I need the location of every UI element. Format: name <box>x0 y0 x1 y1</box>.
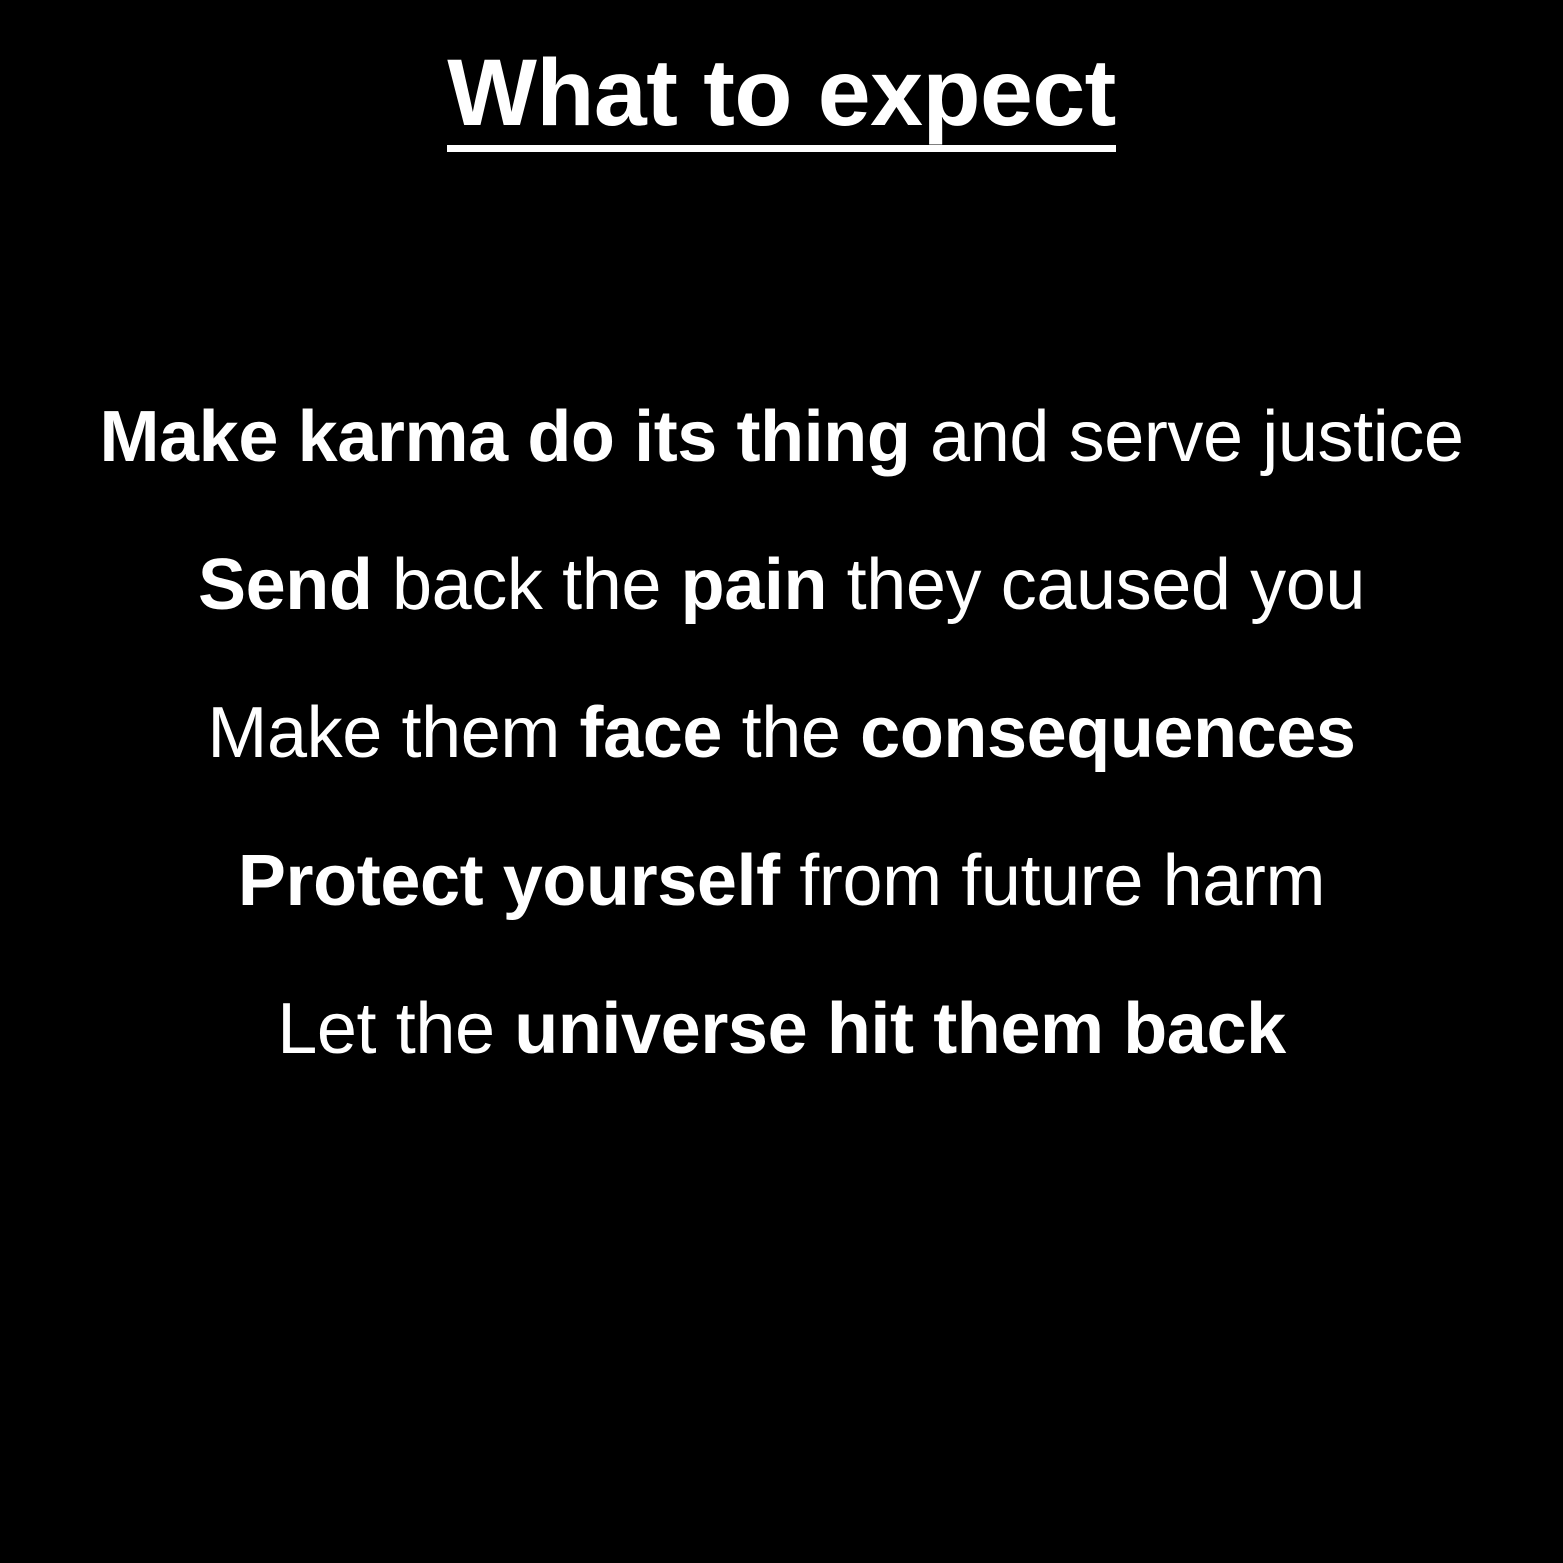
statement-line: Protect yourself from future harm <box>0 807 1563 955</box>
title-underline-rule <box>447 145 1116 152</box>
page-title: What to expect <box>447 44 1116 144</box>
statement-line-text: Make karma do its thing and serve justic… <box>99 401 1463 473</box>
emphasis-text: universe hit them back <box>514 989 1285 1069</box>
statement-line: Make karma do its thing and serve justic… <box>0 363 1563 511</box>
emphasis-text: consequences <box>860 693 1355 773</box>
statement-line: Send back the pain they caused you <box>0 511 1563 659</box>
plain-text: from future harm <box>780 841 1325 921</box>
emphasis-text: face <box>580 693 723 773</box>
plain-text: back the <box>372 545 680 625</box>
plain-text: Make them <box>207 693 579 773</box>
page-title-container: What to expect <box>0 44 1563 144</box>
slide-canvas: What to expect Make karma do its thing a… <box>0 0 1563 1563</box>
statement-line-text: Protect yourself from future harm <box>238 845 1325 917</box>
plain-text: they caused you <box>827 545 1365 625</box>
emphasis-text: pain <box>681 545 827 625</box>
statement-list: Make karma do its thing and serve justic… <box>0 363 1563 1103</box>
emphasis-text: Send <box>198 545 372 625</box>
page-title-text: What to expect <box>447 40 1116 146</box>
emphasis-text: Protect yourself <box>238 841 780 921</box>
plain-text: the <box>722 693 860 773</box>
statement-line-text: Let the universe hit them back <box>277 993 1285 1065</box>
statement-line: Make them face the consequences <box>0 659 1563 807</box>
statement-line-text: Send back the pain they caused you <box>198 549 1365 621</box>
statement-line-text: Make them face the consequences <box>207 697 1355 769</box>
plain-text: Let the <box>277 989 514 1069</box>
emphasis-text: Make karma do its thing <box>99 397 910 477</box>
plain-text: and serve justice <box>910 397 1463 477</box>
statement-line: Let the universe hit them back <box>0 955 1563 1103</box>
